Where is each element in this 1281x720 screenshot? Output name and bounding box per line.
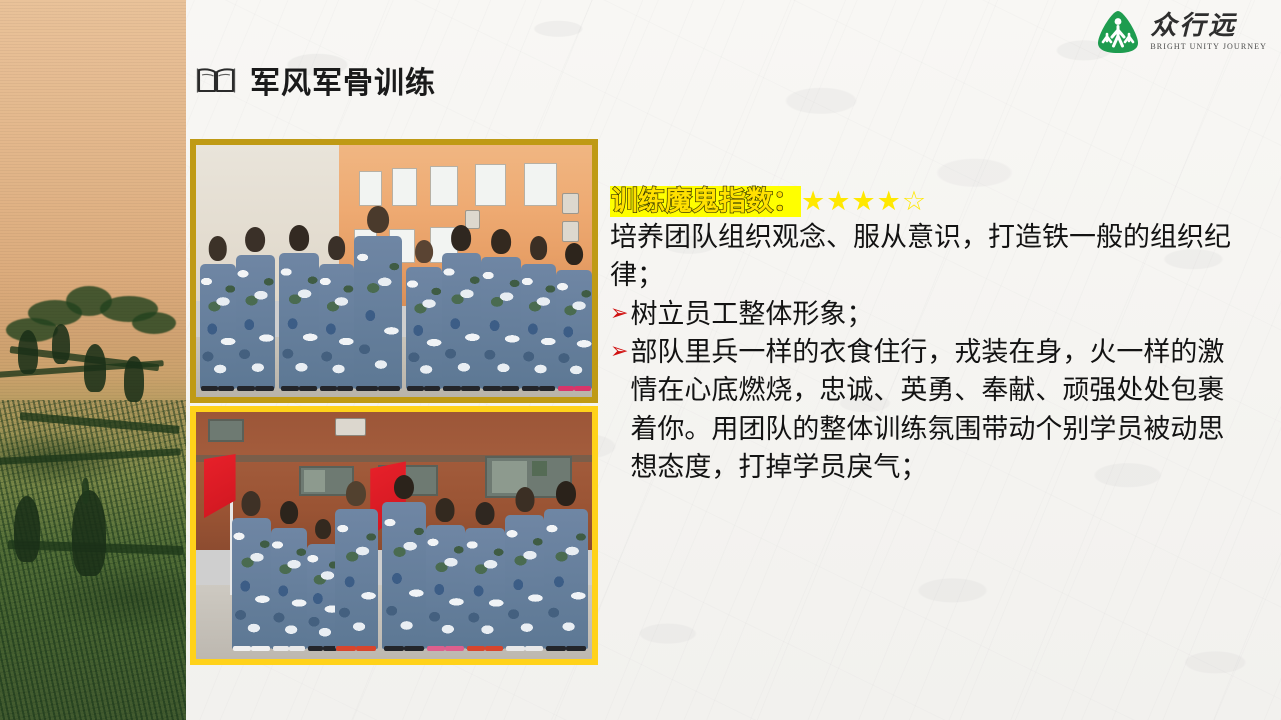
person-figure <box>481 250 521 390</box>
bullet-arrow-icon: ➢ <box>610 296 628 332</box>
rating-label: 训练魔鬼指数： <box>610 186 801 217</box>
person-figure <box>465 521 505 649</box>
rating-line: 训练魔鬼指数：★★★★☆ <box>610 186 1250 217</box>
photo-1-content <box>196 145 592 397</box>
photo-2-content <box>196 412 592 659</box>
photo-1-people-row <box>196 211 592 390</box>
image-grain <box>0 0 186 720</box>
brand-chinese-name: 众行远 <box>1150 13 1237 39</box>
content-text-column: 训练魔鬼指数：★★★★☆ 培养团队组织观念、服从意识，打造铁一般的组织纪律； ➢… <box>610 186 1250 487</box>
intro-paragraph: 培养团队组织观念、服从意识，打造铁一般的组织纪律； <box>610 219 1250 296</box>
brand-mark-icon <box>1094 8 1142 56</box>
person-figure <box>426 518 466 649</box>
person-figure <box>271 521 307 649</box>
page-title: 军风军骨训练 <box>250 58 436 102</box>
brand-text: 众行远 BRIGHT UNITY JOURNEY <box>1150 13 1267 51</box>
page-title-row: 军风军骨训练 <box>196 58 436 102</box>
person-figure <box>406 261 442 390</box>
person-figure <box>232 511 272 649</box>
open-book-icon <box>196 65 236 95</box>
bullet-item-1: ➢ 树立员工整体形象； <box>610 296 1250 334</box>
person-figure <box>307 538 339 649</box>
left-decorative-image <box>0 0 186 720</box>
brand-logo: 众行远 BRIGHT UNITY JOURNEY <box>1094 8 1267 56</box>
bullet-arrow-icon: ➢ <box>610 334 628 370</box>
photo-flag-formation <box>190 406 598 665</box>
person-figure <box>200 257 236 389</box>
slide-root: 军风军骨训练 众行远 BRIGHT UNITY JOURNEY <box>0 0 1281 720</box>
bullet-item-1-text: 树立员工整体形象； <box>630 296 1250 334</box>
photo-2-people-row <box>196 481 592 649</box>
person-figure <box>556 264 592 389</box>
photo-formation-training <box>190 139 598 403</box>
person-figure <box>521 257 557 389</box>
person-figure <box>236 248 276 389</box>
person-figure <box>319 257 355 389</box>
person-figure-lead <box>354 228 402 389</box>
bullet-item-2: ➢ 部队里兵一样的衣食住行，戎装在身，火一样的激情在心底燃烧，忠诚、英勇、奉献、… <box>610 334 1250 487</box>
rating-stars: ★★★★☆ <box>801 186 927 217</box>
person-figure <box>442 246 482 389</box>
person-figure <box>335 501 379 649</box>
person-figure <box>505 508 545 649</box>
person-figure <box>279 246 319 389</box>
brand-english-tagline: BRIGHT UNITY JOURNEY <box>1150 42 1267 51</box>
person-figure <box>382 495 426 650</box>
bullet-item-2-text: 部队里兵一样的衣食住行，戎装在身，火一样的激情在心底燃烧，忠诚、英勇、奉献、顽强… <box>630 334 1250 487</box>
person-figure <box>544 501 588 649</box>
